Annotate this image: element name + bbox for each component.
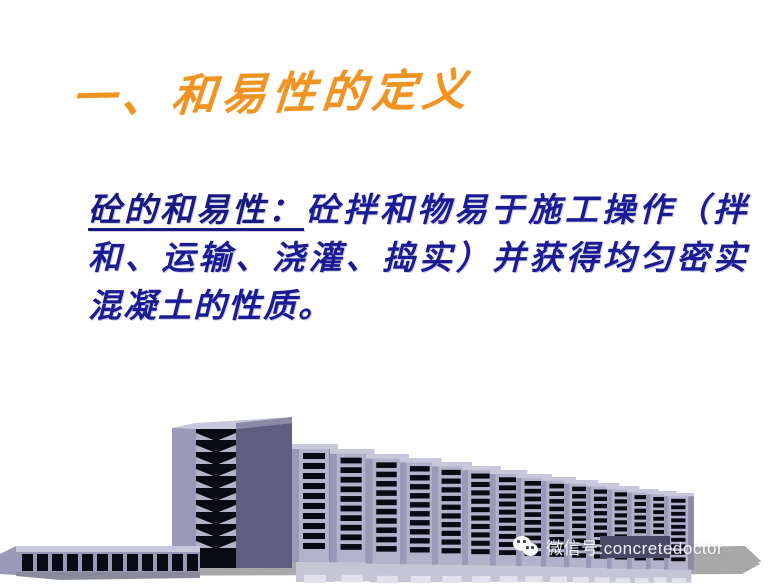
slide-canvas: 一、和易性的定义 砼的和易性：砼拌和物易于施工操作（拌和、运输、浇灌、捣实）并获… bbox=[0, 0, 783, 588]
body-lead-term: 砼的和易性： bbox=[88, 190, 306, 229]
body-paragraph: 砼的和易性：砼拌和物易于施工操作（拌和、运输、浇灌、捣实）并获得均匀密实混凝土的… bbox=[88, 186, 748, 330]
tower-row-base bbox=[600, 536, 670, 558]
tower-row bbox=[292, 444, 694, 584]
main-tower bbox=[172, 417, 292, 568]
building-illustration bbox=[0, 396, 783, 588]
page-title: 一、和易性的定义 bbox=[69, 49, 676, 126]
podium-building bbox=[0, 546, 200, 580]
